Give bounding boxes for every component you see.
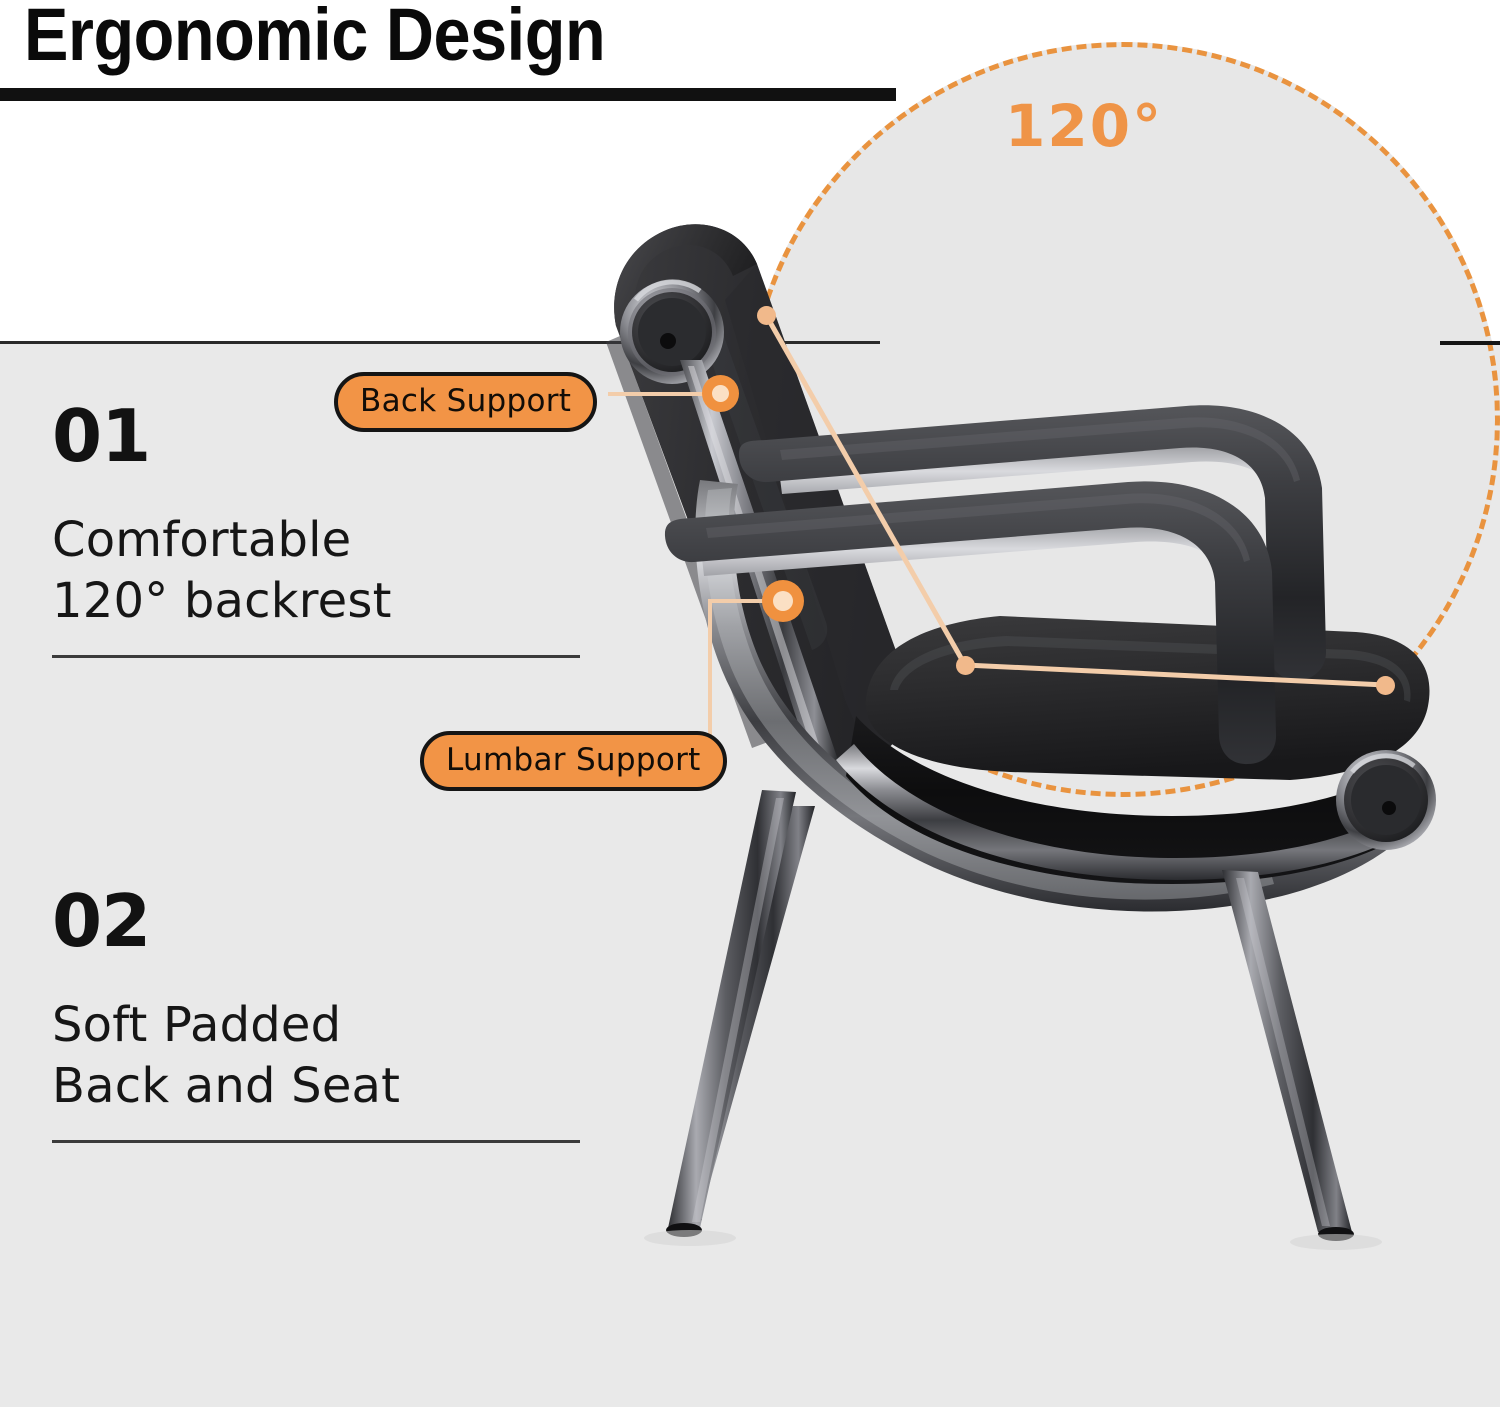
angle-vertex-point (956, 656, 975, 675)
lumbar-support-badge[interactable]: Lumbar Support (420, 731, 727, 791)
lumbar-support-marker-dot (762, 580, 804, 622)
angle-point-seat (1376, 676, 1395, 695)
lumbar-support-leader-horizontal (708, 599, 770, 603)
lumbar-support-leader-vertical (708, 599, 712, 735)
angle-point-backrest (757, 306, 776, 325)
angle-measure-lines (0, 0, 1500, 1407)
infographic-canvas: Ergonomic Design 120° (0, 0, 1500, 1407)
back-support-marker-dot (702, 375, 739, 412)
back-support-badge[interactable]: Back Support (334, 372, 597, 432)
annotation-layer: Back Support Lumbar Support (0, 0, 1500, 1407)
back-support-leader-line (608, 392, 708, 396)
